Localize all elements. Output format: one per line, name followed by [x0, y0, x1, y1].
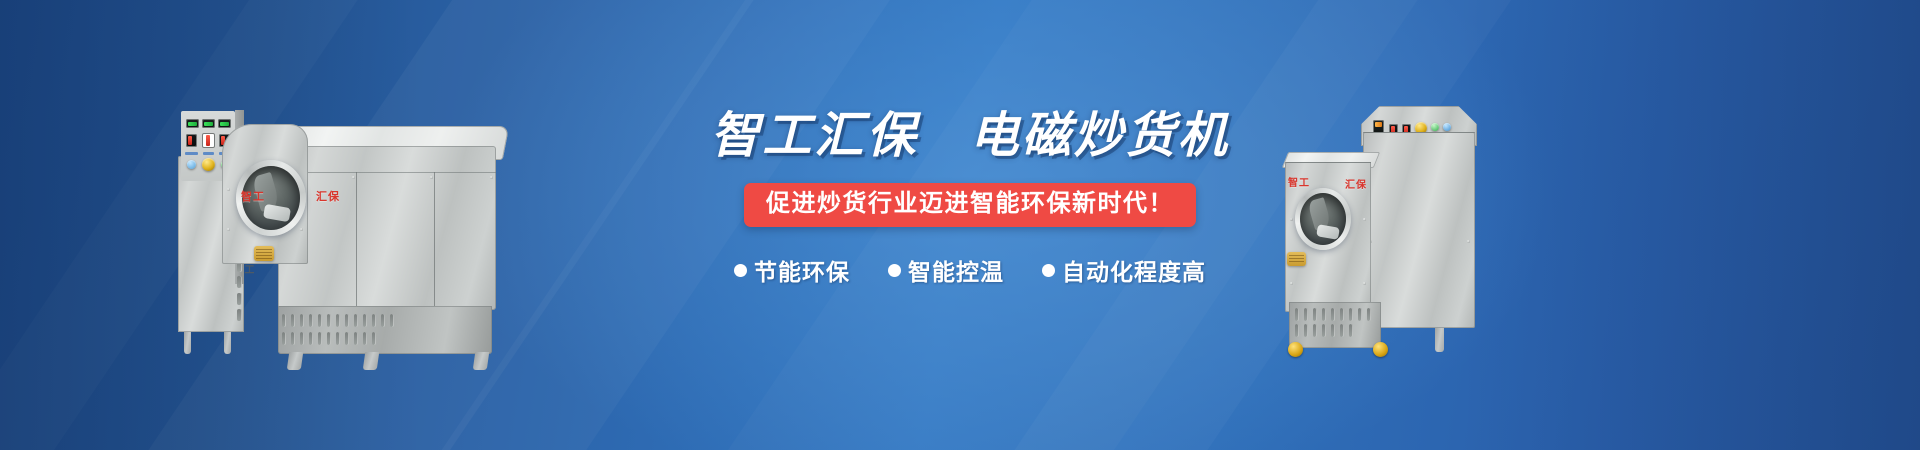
bullet-dot-icon — [734, 264, 747, 277]
machine-right-illustration: 智工 汇保 — [1285, 96, 1515, 364]
right-machine-button-a — [1431, 123, 1439, 131]
right-machine-caster-front — [1288, 342, 1303, 357]
banner-headline: 智工汇保 电磁炒货机 — [690, 112, 1250, 161]
left-machine-spec-plate — [254, 246, 274, 261]
feature-item: 节能环保 — [734, 253, 850, 287]
banner-tagline-pill: 促进炒货行业迈进智能环保新时代！ — [744, 183, 1196, 227]
left-machine-estop-button — [202, 158, 215, 171]
left-machine-brand-mark-1: 智工 — [241, 188, 265, 204]
bullet-dot-icon — [888, 264, 901, 277]
banner-copy-block: 智工汇保 电磁炒货机 促进炒货行业迈进智能环保新时代！ 节能环保 智能控温 自动… — [690, 112, 1250, 287]
machine-left-illustration: 许昌智工 智工 汇保 — [178, 108, 598, 370]
right-machine-spec-plate — [1287, 252, 1306, 266]
left-machine-body — [278, 146, 496, 310]
right-machine-caster-rear — [1373, 342, 1388, 357]
feature-item: 自动化程度高 — [1042, 253, 1206, 287]
right-machine-brand-mark-1: 智工 — [1288, 174, 1310, 189]
feature-item: 智能控温 — [888, 253, 1004, 287]
right-machine-brand-mark-2: 汇保 — [1345, 176, 1367, 191]
right-machine-cabinet — [1363, 132, 1475, 328]
promo-banner: 许昌智工 智工 汇保 — [0, 0, 1920, 450]
right-machine-drum-opening — [1300, 193, 1346, 245]
banner-tagline-text: 促进炒货行业迈进智能环保新时代！ — [766, 190, 1174, 217]
left-machine-brand-mark-2: 汇保 — [316, 188, 340, 204]
feature-label: 自动化程度高 — [1062, 253, 1206, 287]
banner-feature-list: 节能环保 智能控温 自动化程度高 — [690, 253, 1250, 287]
right-machine-button-b — [1443, 123, 1451, 131]
headline-part-2: 电磁炒货机 — [970, 109, 1230, 163]
feature-label: 节能环保 — [754, 253, 850, 287]
feature-label: 智能控温 — [908, 253, 1004, 287]
headline-part-1: 智工汇保 — [710, 109, 918, 163]
bullet-dot-icon — [1042, 264, 1055, 277]
left-machine-power-button — [187, 160, 196, 169]
